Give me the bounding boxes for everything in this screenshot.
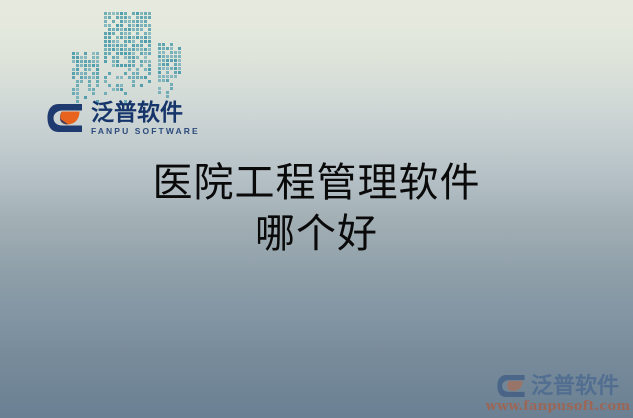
fanpu-watermark-mark-icon (497, 374, 527, 398)
brand-name-cn: 泛普软件 (91, 101, 200, 124)
watermark-brand-name: 泛普软件 (531, 375, 619, 397)
headline-line-1: 医院工程管理软件 (0, 158, 633, 209)
brand-logo: 泛普软件 FANPU SOFTWARE (47, 101, 200, 136)
brand-name-en: FANPU SOFTWARE (91, 127, 200, 136)
watermark-url: www.fanpusoft.com (486, 399, 631, 414)
slide-headline: 医院工程管理软件 哪个好 (0, 158, 633, 260)
watermark-logo-row: 泛普软件 (497, 374, 619, 398)
fanpu-logo-mark-icon (47, 103, 85, 133)
headline-line-2: 哪个好 (0, 209, 633, 260)
corner-watermark: 泛普软件 www.fanpusoft.com (487, 374, 629, 414)
pixel-skyline-icon (70, 12, 182, 104)
slide-canvas: 泛普软件 FANPU SOFTWARE 医院工程管理软件 哪个好 泛普软件 ww… (0, 0, 633, 418)
